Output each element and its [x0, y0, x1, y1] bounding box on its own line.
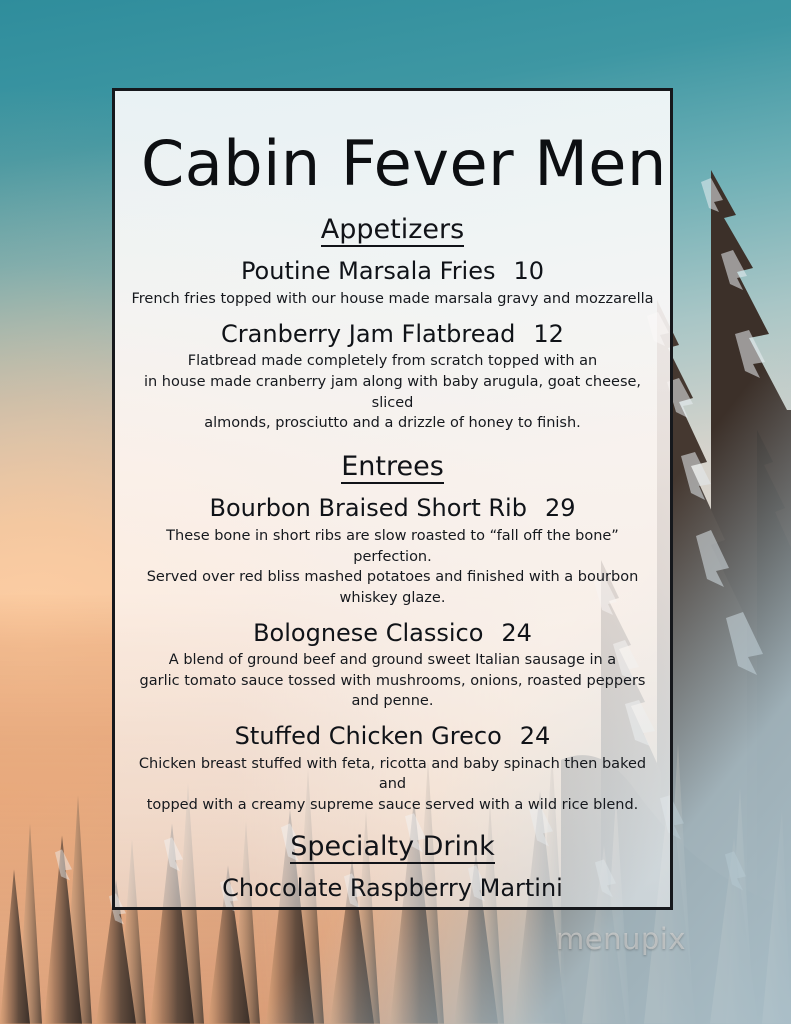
description-line: These bone in short ribs are slow roaste…	[131, 526, 654, 567]
menu-item: Poutine Marsala Fries10 French fries top…	[131, 257, 654, 309]
menu-item-name: Stuffed Chicken Greco	[235, 722, 502, 750]
description-line: Served over red bliss mashed potatoes an…	[131, 567, 654, 608]
menu-item-price: 10	[514, 257, 545, 285]
menu-item-description: Flatbread made completely from scratch t…	[131, 351, 654, 433]
menu-photo-page: Cabin Fever Menu Appetizers Poutine Mars…	[0, 0, 791, 1024]
description-line: almonds, prosciutto and a drizzle of hon…	[131, 413, 654, 434]
menu-item-title: Bourbon Braised Short Rib29	[131, 494, 654, 524]
menu-item-description: A blend of ground beef and ground sweet …	[131, 650, 654, 712]
menu-item-price: 29	[545, 494, 576, 522]
menu-item-description: French fries topped with our house made …	[131, 289, 654, 310]
description-line: garlic tomato sauce tossed with mushroom…	[131, 671, 654, 712]
page-title: Cabin Fever Menu	[141, 131, 654, 197]
menu-item-price: 12	[533, 320, 564, 348]
section-heading: Entrees	[341, 452, 444, 485]
menu-item-price: 24	[520, 722, 551, 750]
menu-item-title: Stuffed Chicken Greco24	[131, 722, 654, 752]
menu-item-title: Chocolate Raspberry Martini	[131, 874, 654, 904]
menu-section-appetizers: Appetizers Poutine Marsala Fries10 Frenc…	[131, 215, 654, 434]
description-line: Chambord, Kahlua, Heavy Cream and garnis…	[131, 906, 654, 910]
menu-item-name: Poutine Marsala Fries	[241, 257, 496, 285]
menu-section-entrees: Entrees Bourbon Braised Short Rib29 Thes…	[131, 452, 654, 816]
description-line: French fries topped with our house made …	[131, 289, 654, 310]
section-heading: Appetizers	[321, 215, 464, 248]
menu-item-description: Chambord, Kahlua, Heavy Cream and garnis…	[131, 906, 654, 910]
menu-item-name: Cranberry Jam Flatbread	[221, 320, 515, 348]
menu-item-name: Bourbon Braised Short Rib	[210, 494, 527, 522]
menu-item: Bolognese Classico24 A blend of ground b…	[131, 619, 654, 712]
menu-item: Stuffed Chicken Greco24 Chicken breast s…	[131, 722, 654, 815]
menu-item-description: Chicken breast stuffed with feta, ricott…	[131, 754, 654, 816]
description-line: topped with a creamy supreme sauce serve…	[131, 795, 654, 816]
menu-item-title: Bolognese Classico24	[131, 619, 654, 649]
description-line: Chicken breast stuffed with feta, ricott…	[131, 754, 654, 795]
menu-item: Chocolate Raspberry Martini Chambord, Ka…	[131, 874, 654, 910]
menu-item-name: Chocolate Raspberry Martini	[222, 874, 563, 902]
description-line: A blend of ground beef and ground sweet …	[131, 650, 654, 671]
menu-item-price: 24	[501, 619, 532, 647]
menu-section-specialty-drink: Specialty Drink Chocolate Raspberry Mart…	[131, 832, 654, 910]
description-line: Flatbread made completely from scratch t…	[131, 351, 654, 372]
description-line: in house made cranberry jam along with b…	[131, 372, 654, 413]
menu-item: Bourbon Braised Short Rib29 These bone i…	[131, 494, 654, 608]
menu-item-name: Bolognese Classico	[253, 619, 483, 647]
menu-card: Cabin Fever Menu Appetizers Poutine Mars…	[112, 88, 673, 910]
menu-item-title: Cranberry Jam Flatbread12	[131, 320, 654, 350]
section-heading: Specialty Drink	[290, 832, 495, 865]
menu-item-title: Poutine Marsala Fries10	[131, 257, 654, 287]
menu-item-description: These bone in short ribs are slow roaste…	[131, 526, 654, 608]
menu-item: Cranberry Jam Flatbread12 Flatbread made…	[131, 320, 654, 434]
